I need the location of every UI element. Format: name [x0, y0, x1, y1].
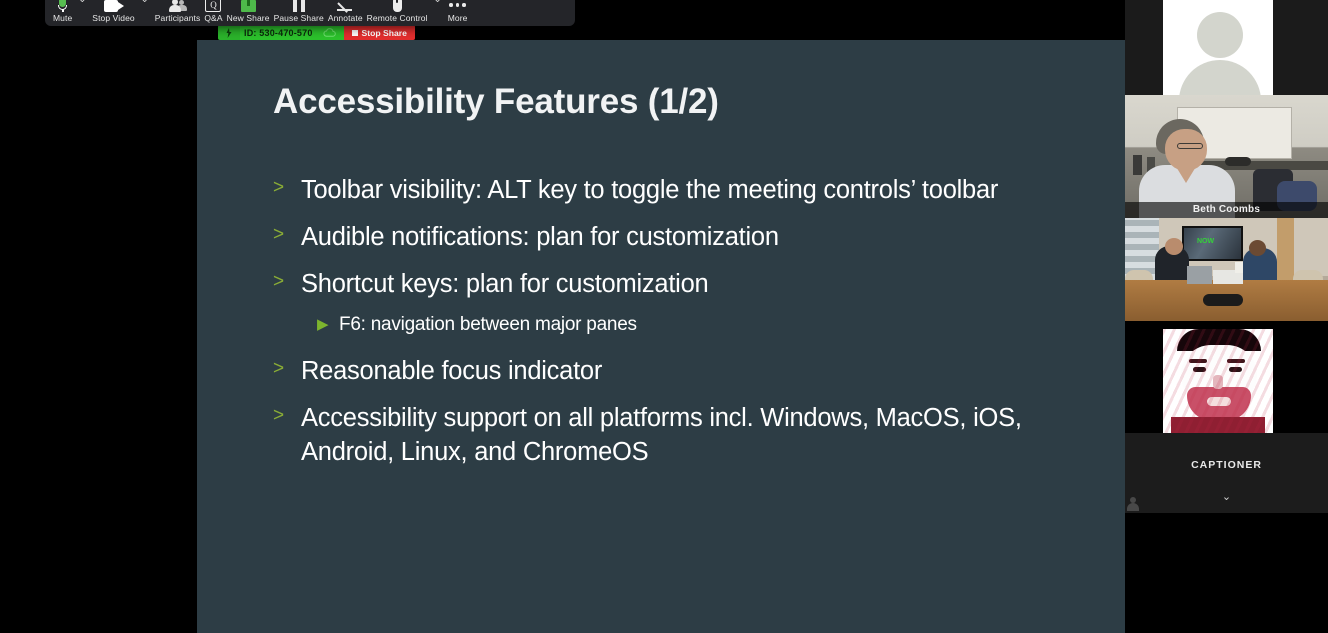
- slide-title: Accessibility Features (1/2): [273, 82, 719, 122]
- meeting-controls-toolbar[interactable]: Mute ⌄ Stop Video ⌄ 105 Participants Q Q…: [45, 0, 575, 26]
- remote-control-button[interactable]: Remote Control: [365, 0, 430, 24]
- video-tile-conference-room[interactable]: NOW: [1125, 218, 1328, 321]
- pause-share-label: Pause Share: [274, 13, 324, 24]
- person-head: [1249, 240, 1266, 256]
- video-frame: NOW: [1125, 218, 1328, 321]
- pencil-icon: [337, 0, 353, 12]
- remote-control-chevron-icon[interactable]: ⌄: [430, 0, 446, 24]
- new-share-button[interactable]: New Share: [225, 0, 272, 24]
- captioner-label: CAPTIONER: [1125, 459, 1328, 471]
- sub-bullet-text: F6: navigation between major panes: [339, 312, 637, 338]
- bullet-text: Reasonable focus indicator: [301, 354, 602, 388]
- sub-bullet-marker-icon: ▶: [311, 312, 339, 338]
- stop-share-label: Stop Share: [362, 28, 407, 38]
- stop-square-icon: [352, 30, 358, 36]
- bullet-item: > Reasonable focus indicator: [267, 354, 1087, 388]
- microphone-icon: [58, 0, 67, 12]
- stop-video-button[interactable]: Stop Video: [90, 0, 136, 24]
- avatar-thumbnail-icon: [1127, 497, 1139, 511]
- bullet-marker-icon: >: [267, 401, 301, 431]
- participant-name-label: Beth Coombs: [1125, 202, 1328, 218]
- meeting-id-label: ID: 530-470-570: [240, 25, 323, 40]
- person-head: [1165, 238, 1183, 255]
- wall-pillar: [1277, 218, 1294, 280]
- remote-control-label: Remote Control: [367, 13, 428, 24]
- shared-slide: Accessibility Features (1/2) > Toolbar v…: [197, 40, 1125, 633]
- bullet-item: > Accessibility support on all platforms…: [267, 401, 1087, 469]
- display-text: NOW: [1197, 238, 1214, 245]
- desk-object: [1225, 157, 1251, 166]
- more-label: More: [448, 13, 468, 24]
- bullet-text: Audible notifications: plan for customiz…: [301, 220, 779, 254]
- screen-share-status-bar[interactable]: ID: 530-470-570 Stop Share: [218, 25, 415, 40]
- annotate-button[interactable]: Annotate: [326, 0, 365, 24]
- stop-video-label: Stop Video: [92, 13, 134, 24]
- more-button[interactable]: 75 More: [446, 0, 470, 24]
- conference-speakerphone: [1203, 294, 1243, 306]
- video-tile-captioner[interactable]: CAPTIONER ⌄: [1125, 433, 1328, 513]
- bullet-text: Toolbar visibility: ALT key to toggle th…: [301, 173, 998, 207]
- bullet-item: > Shortcut keys: plan for customization: [267, 267, 1087, 301]
- bullet-marker-icon: >: [267, 267, 301, 297]
- bullet-item: > Toolbar visibility: ALT key to toggle …: [267, 173, 1087, 207]
- eyeglasses: [1177, 143, 1203, 149]
- participants-icon: 105: [168, 0, 188, 12]
- screen-root: Accessibility Features (1/2) > Toolbar v…: [0, 0, 1328, 633]
- bullet-marker-icon: >: [267, 220, 301, 250]
- new-share-label: New Share: [227, 13, 270, 24]
- video-options-chevron-icon[interactable]: ⌄: [137, 0, 153, 24]
- qa-icon: Q: [205, 0, 221, 12]
- audio-options-chevron-icon[interactable]: ⌄: [74, 0, 90, 24]
- mute-label: Mute: [53, 13, 72, 24]
- laptop: [1187, 266, 1212, 284]
- camera-icon: [104, 0, 124, 12]
- person-face: [1165, 129, 1207, 171]
- stop-share-button[interactable]: Stop Share: [344, 25, 415, 40]
- mouse-icon: [393, 0, 402, 12]
- ellipsis-icon: 75: [448, 0, 468, 12]
- bullet-marker-icon: >: [267, 354, 301, 384]
- bottle: [1133, 155, 1142, 175]
- bullet-item: > Audible notifications: plan for custom…: [267, 220, 1087, 254]
- pause-icon: [292, 0, 306, 12]
- screen-share-icon: [241, 0, 256, 12]
- qa-label: Q&A: [204, 13, 222, 24]
- cloud-recording-icon[interactable]: [323, 25, 344, 40]
- sub-bullet-item: ▶ F6: navigation between major panes: [311, 312, 1087, 338]
- pause-share-button[interactable]: Pause Share: [272, 0, 326, 24]
- avatar-head-icon: [1197, 12, 1243, 58]
- slide-bullet-list: > Toolbar visibility: ALT key to toggle …: [267, 173, 1087, 482]
- participant-filmstrip[interactable]: Beth Coombs NOW: [1125, 0, 1328, 633]
- video-artifact-overlay: [1163, 329, 1273, 433]
- video-tile-high-contrast-face[interactable]: [1125, 321, 1328, 433]
- video-frame: [1125, 95, 1328, 218]
- chevron-down-icon[interactable]: ⌄: [1125, 490, 1328, 503]
- participants-label: Participants: [155, 13, 201, 24]
- bullet-marker-icon: >: [267, 173, 301, 203]
- lock-icon: [218, 25, 240, 40]
- participants-button[interactable]: 105 Participants: [153, 0, 203, 24]
- video-tile-beth-coombs[interactable]: Beth Coombs: [1125, 95, 1328, 218]
- qa-button[interactable]: Q Q&A: [202, 0, 224, 24]
- bullet-text: Shortcut keys: plan for customization: [301, 267, 708, 301]
- annotate-label: Annotate: [328, 13, 363, 24]
- bullet-text: Accessibility support on all platforms i…: [301, 401, 1087, 469]
- cup: [1235, 262, 1243, 273]
- mute-button[interactable]: Mute: [51, 0, 74, 24]
- video-tile-avatar[interactable]: [1125, 0, 1328, 95]
